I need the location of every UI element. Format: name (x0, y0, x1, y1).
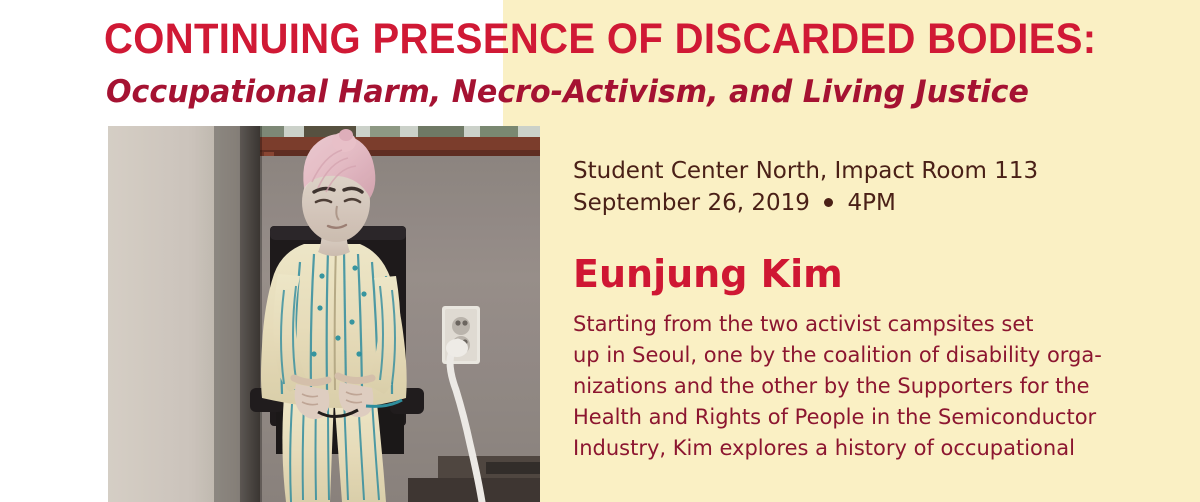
event-time: 4PM (848, 190, 896, 216)
headline-block: Continuing Presence of Discarded Bodies:… (0, 0, 1200, 126)
event-details-column: Student Center North, Impact Room 113 Se… (573, 155, 1173, 464)
seated-figure-sculpture-icon (108, 126, 540, 502)
abstract-line: up in Seoul, one by the coalition of dis… (573, 340, 1133, 371)
abstract-text: Starting from the two activist campsites… (573, 309, 1133, 464)
abstract-line: Health and Rights of People in the Semic… (573, 402, 1133, 433)
abstract-line: Industry, Kim explores a history of occu… (573, 433, 1133, 464)
venue-line: Student Center North, Impact Room 113 (573, 155, 1173, 187)
poster-title: Continuing Presence of Discarded Bodies: (104, 17, 1043, 61)
event-date: September 26, 2019 (573, 190, 810, 216)
poster-photo (108, 126, 540, 502)
datetime-line: September 26, 2019 4PM (573, 187, 1173, 219)
abstract-line: nizations and the other by the Supporter… (573, 371, 1133, 402)
speaker-name: Eunjung Kim (573, 252, 1173, 296)
poster-subtitle: Occupational Harm, Necro-Activism, and L… (106, 74, 1086, 110)
abstract-line: Starting from the two activist campsites… (573, 309, 1133, 340)
bullet-dot-icon (824, 198, 833, 207)
event-poster: Continuing Presence of Discarded Bodies:… (0, 0, 1200, 502)
